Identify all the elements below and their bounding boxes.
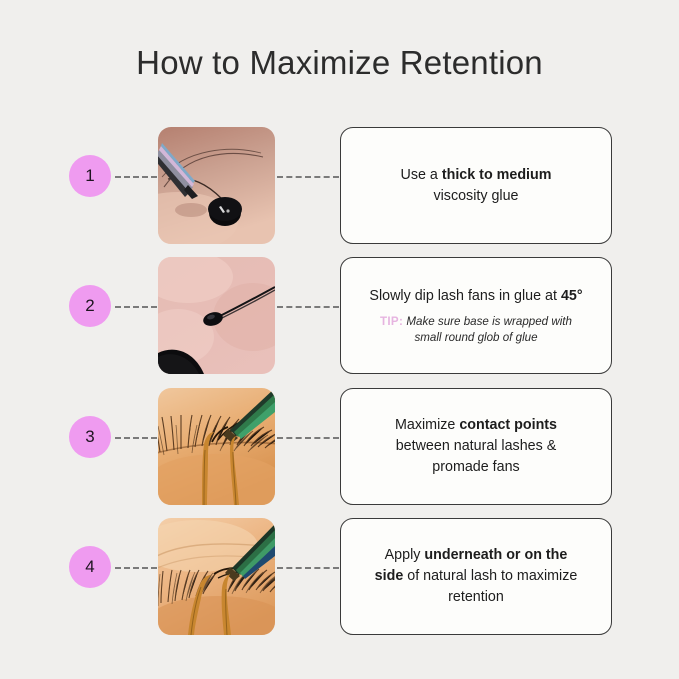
step-number-badge-4: 4 bbox=[69, 546, 111, 588]
step-text-line: Apply underneath or on the bbox=[385, 545, 568, 566]
text-segment-bold: 45° bbox=[561, 288, 583, 304]
step-number-label-1: 1 bbox=[85, 166, 94, 186]
step-number-badge-3: 3 bbox=[69, 416, 111, 458]
step-text-card-3: Maximize contact points between natural … bbox=[340, 388, 612, 505]
step-row-1: 1 bbox=[0, 127, 679, 244]
tip-text-line-2: small round glob of glue bbox=[414, 331, 537, 344]
step-text-line: Use a thick to medium bbox=[401, 165, 552, 186]
connector-image-to-card-4 bbox=[277, 567, 339, 569]
connector-image-to-card-1 bbox=[277, 176, 339, 178]
text-segment: Use a bbox=[401, 167, 442, 183]
connector-image-to-card-3 bbox=[277, 437, 339, 439]
text-segment: viscosity glue bbox=[433, 188, 518, 204]
step-text-card-1: Use a thick to medium viscosity glue bbox=[340, 127, 612, 244]
step-text-line: viscosity glue bbox=[433, 186, 518, 207]
text-segment: retention bbox=[448, 589, 504, 605]
step-number-badge-2: 2 bbox=[69, 285, 111, 327]
text-segment: Apply bbox=[385, 547, 425, 563]
text-segment: Maximize bbox=[395, 417, 459, 433]
step-number-label-2: 2 bbox=[85, 296, 94, 316]
connector-badge-to-image-2 bbox=[115, 306, 157, 308]
text-segment-bold: contact points bbox=[459, 417, 557, 433]
step-number-badge-1: 1 bbox=[69, 155, 111, 197]
step-row-4: 4 bbox=[0, 518, 679, 635]
step-number-label-4: 4 bbox=[85, 557, 94, 577]
text-segment: between natural lashes & bbox=[396, 438, 557, 454]
infographic-root: How to Maximize Retention 1 bbox=[0, 0, 679, 679]
connector-badge-to-image-4 bbox=[115, 567, 157, 569]
step-image-1 bbox=[158, 127, 275, 244]
step-text-card-4: Apply underneath or on the side of natur… bbox=[340, 518, 612, 635]
page-title: How to Maximize Retention bbox=[0, 44, 679, 82]
step-image-3 bbox=[158, 388, 275, 505]
step-row-2: 2 bbox=[0, 257, 679, 374]
text-segment: Slowly dip lash fans in glue at bbox=[369, 288, 561, 304]
step-text-line: Slowly dip lash fans in glue at 45° bbox=[369, 286, 582, 307]
connector-badge-to-image-3 bbox=[115, 437, 157, 439]
step-image-4 bbox=[158, 518, 275, 635]
step-text-card-2: Slowly dip lash fans in glue at 45° TIP:… bbox=[340, 257, 612, 374]
step-image-2 bbox=[158, 257, 275, 374]
step-text-line: Maximize contact points bbox=[395, 415, 557, 436]
step-text-line: between natural lashes & bbox=[396, 436, 557, 457]
step-text-line: side of natural lash to maximize bbox=[375, 566, 578, 587]
text-segment-bold: side bbox=[375, 568, 404, 584]
tip-label: TIP: bbox=[380, 315, 403, 328]
text-segment: promade fans bbox=[432, 459, 519, 475]
tip-text-line-1: Make sure base is wrapped with bbox=[406, 315, 572, 328]
text-segment-bold: thick to medium bbox=[442, 167, 552, 183]
tip-block: TIP: Make sure base is wrapped with smal… bbox=[380, 314, 572, 346]
step-text-line: promade fans bbox=[432, 457, 519, 478]
connector-badge-to-image-1 bbox=[115, 176, 157, 178]
step-row-3: 3 bbox=[0, 388, 679, 505]
step-text-line: retention bbox=[448, 587, 504, 608]
text-segment: of natural lash to maximize bbox=[403, 568, 577, 584]
connector-image-to-card-2 bbox=[277, 306, 339, 308]
step-number-label-3: 3 bbox=[85, 427, 94, 447]
text-segment-bold: underneath or on the bbox=[424, 547, 567, 563]
